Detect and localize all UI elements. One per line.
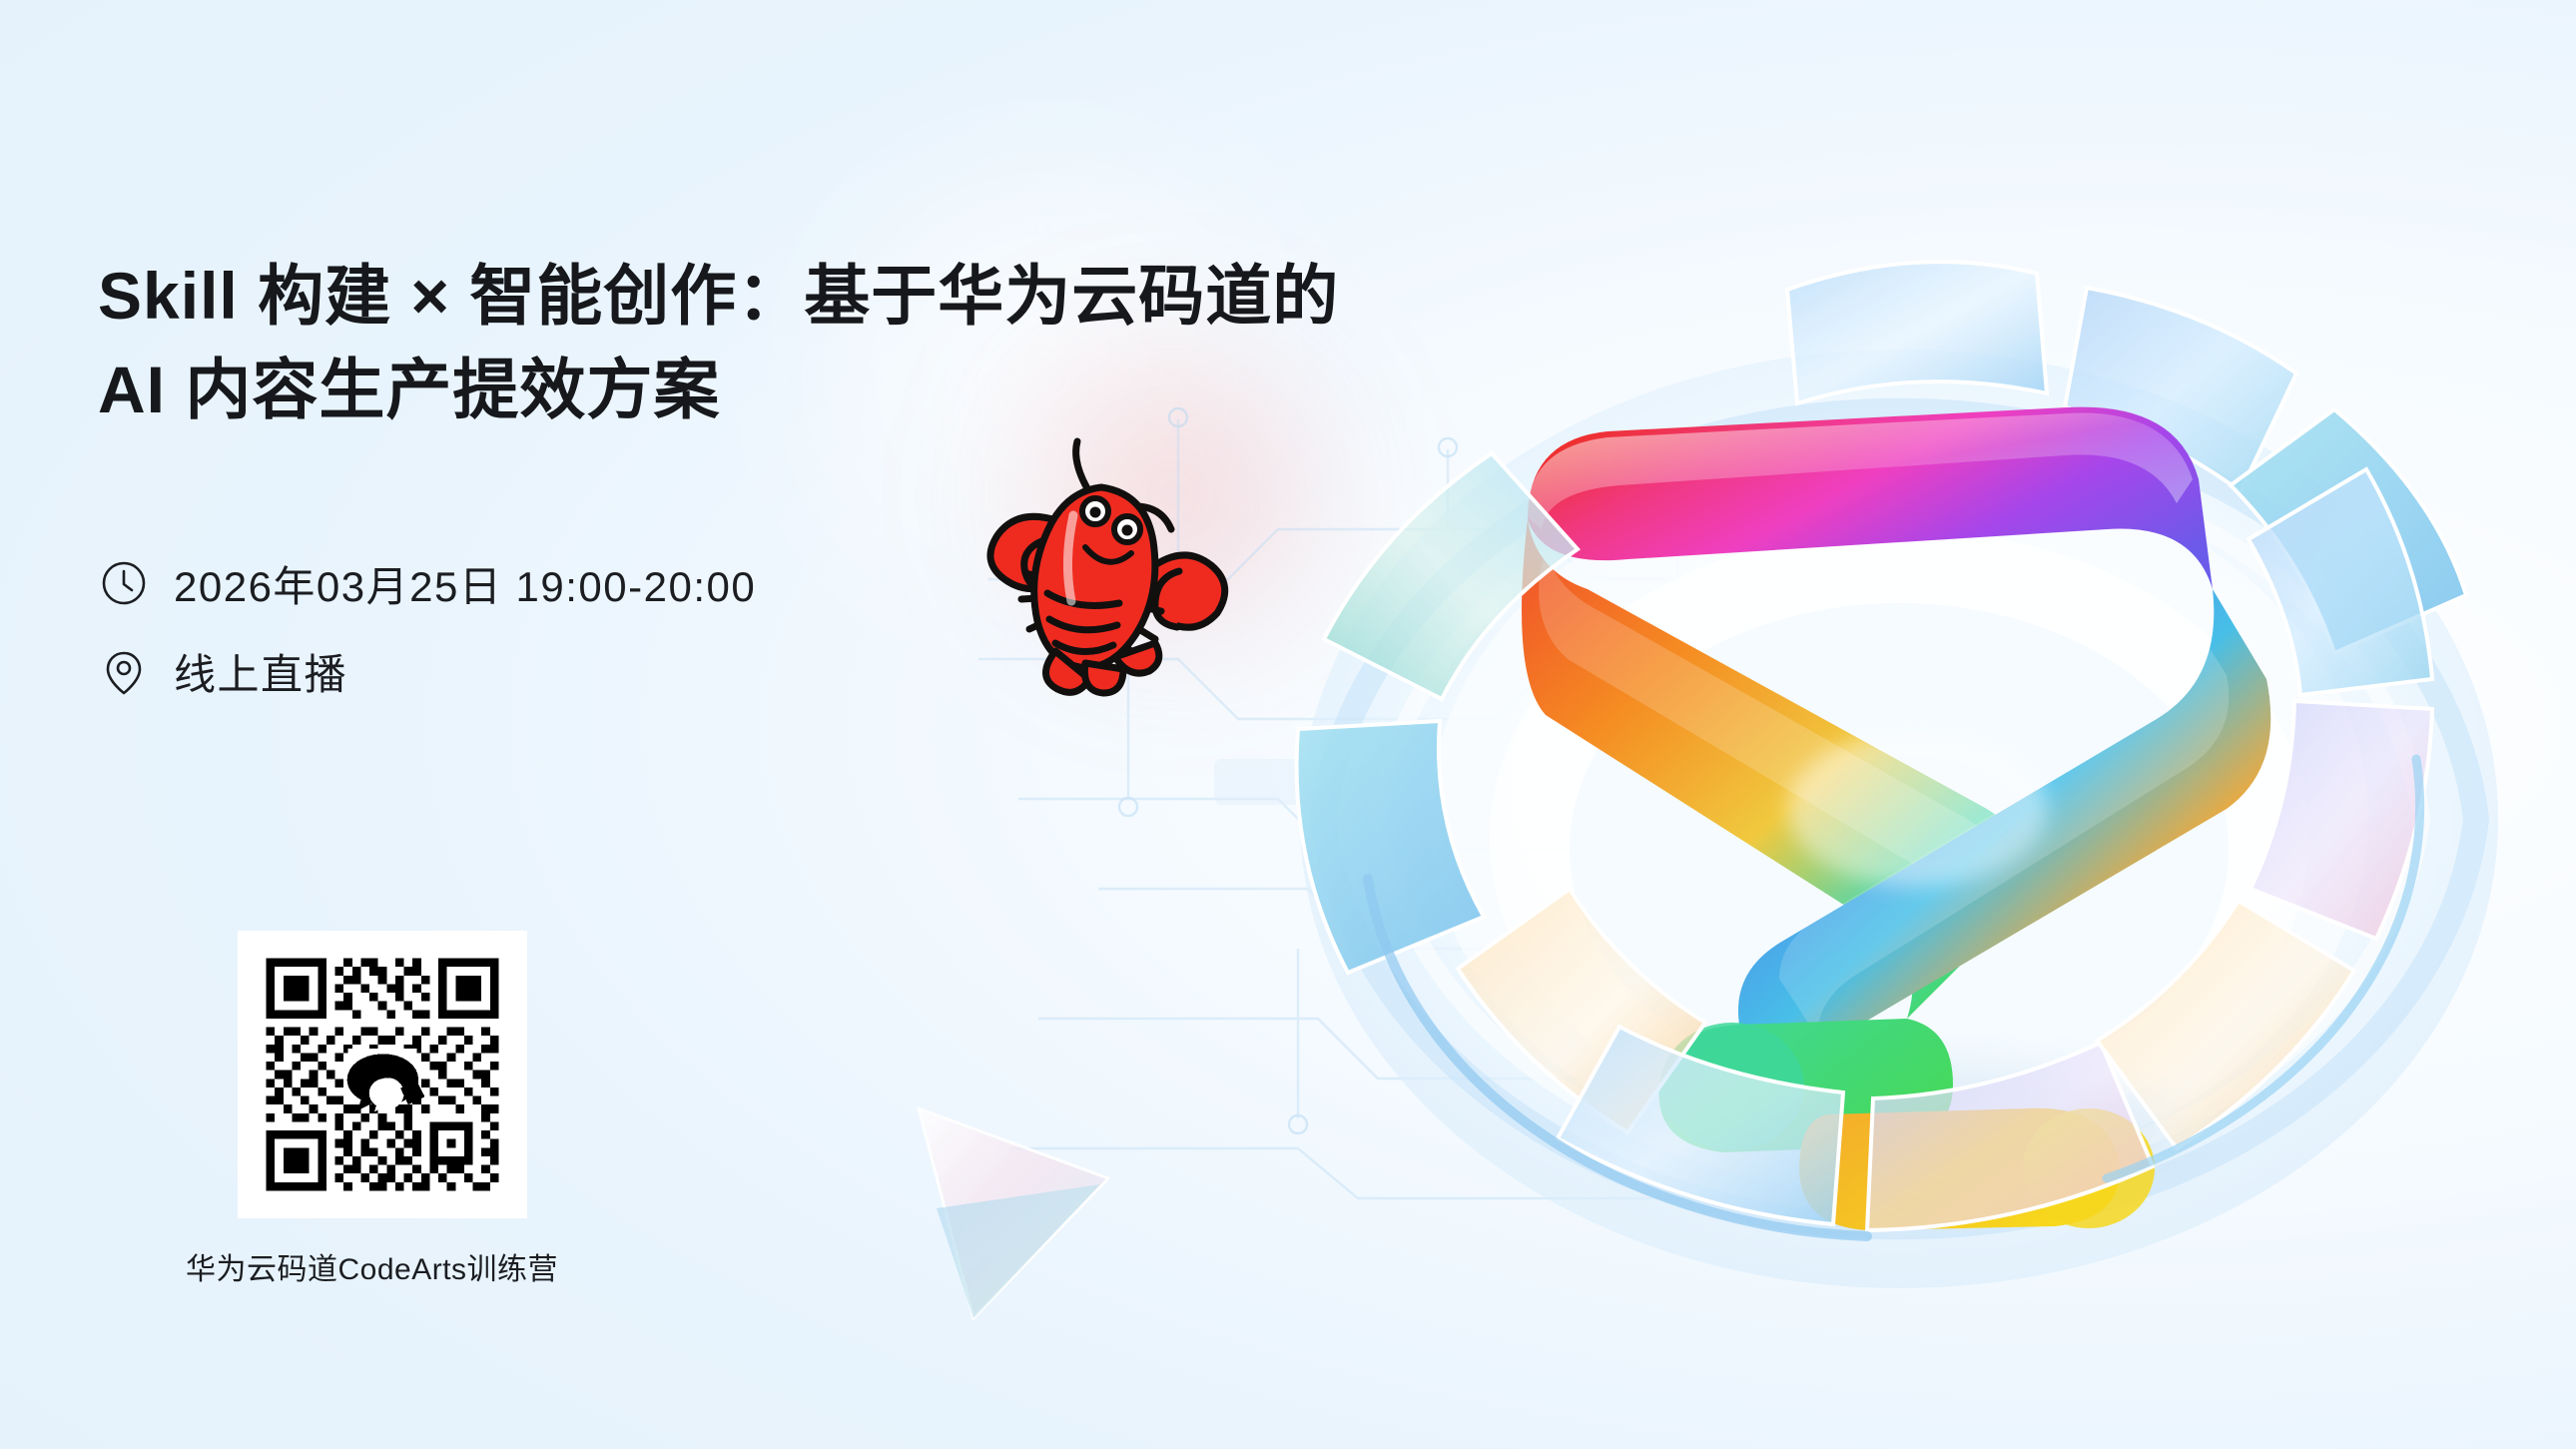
event-location-text: 线上直播 <box>174 641 347 702</box>
glass-prism-icon <box>879 1088 1178 1388</box>
event-location-row: 线上直播 <box>98 634 1216 708</box>
rainbow-ribbon-icon <box>1228 120 2576 1378</box>
content-column: Skill 构建 × 智能创作：基于华为云码道的 AI 内容生产提效方案 202… <box>98 250 1216 708</box>
page-title-line-2: AI 内容生产提效方案 <box>98 344 1216 437</box>
page-title-line-1: Skill 构建 × 智能创作：基于华为云码道的 <box>98 250 1216 344</box>
hero-graphic <box>1228 120 2576 1378</box>
event-meta: 2026年03月25日 19:00-20:00 线上直播 <box>98 546 1216 708</box>
event-datetime-row: 2026年03月25日 19:00-20:00 <box>98 546 1216 620</box>
location-pin-icon <box>98 645 150 697</box>
qr-block: 华为云码道CodeArts训练营 <box>238 931 527 1288</box>
qr-code[interactable] <box>238 931 527 1218</box>
qr-code-icon[interactable] <box>258 950 507 1199</box>
qr-caption: 华为云码道CodeArts训练营 <box>186 1244 475 1288</box>
clock-icon <box>98 557 150 609</box>
promo-banner: Skill 构建 × 智能创作：基于华为云码道的 AI 内容生产提效方案 202… <box>0 0 2576 1449</box>
event-datetime-text: 2026年03月25日 19:00-20:00 <box>174 553 756 614</box>
